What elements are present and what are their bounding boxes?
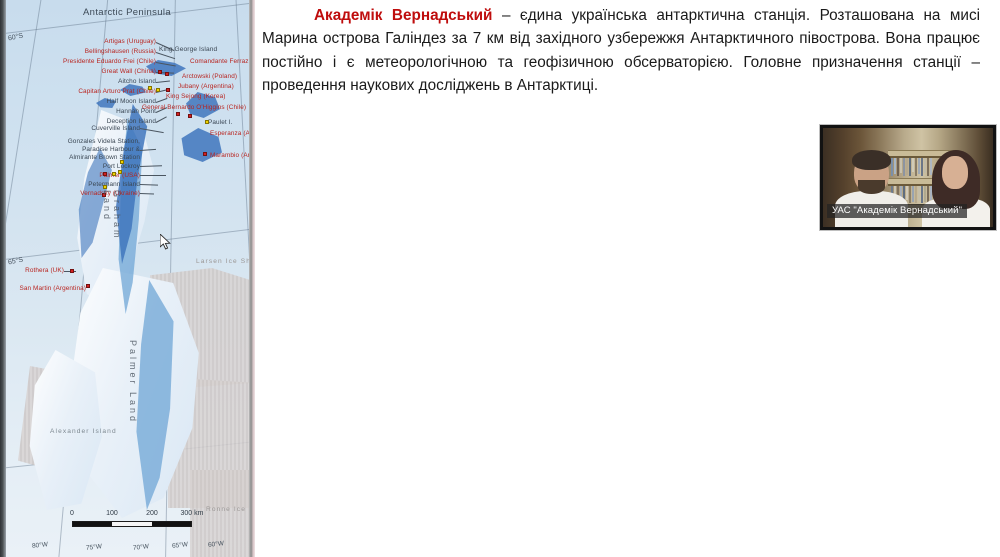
station-label-capitan-arturo-prat: Capitan Arturo Prat (Chile) — [4, 89, 156, 96]
scale-bar-graphic — [72, 521, 192, 527]
place-label-paulet-island: Paulet I. — [208, 120, 232, 127]
place-label-cuverville-island: Cuverville Island — [4, 126, 140, 133]
station-marker — [166, 88, 170, 92]
station-marker — [165, 72, 169, 76]
station-marker — [176, 112, 180, 116]
presentation-slide: Antarctic Peninsula 60°S 65°S Artigas (U… — [0, 0, 1000, 557]
station-marker — [86, 284, 90, 288]
scale-tick-labels: 0 100 200 300 km — [72, 510, 192, 520]
station-marker — [148, 86, 152, 90]
place-label-aitcho-island: Aitcho Island — [4, 79, 156, 86]
video-thumbnail[interactable]: УАС "Академік Вернадський" — [820, 125, 996, 230]
place-label-king-george-island: King George Island — [159, 46, 217, 53]
leader-line — [140, 175, 166, 176]
region-label-graham-land: Graham Land — [102, 190, 122, 270]
region-label-palmer-land: Palmer Land — [128, 340, 138, 440]
scale-segment — [73, 522, 112, 526]
map-scale-bar: 0 100 200 300 km — [72, 521, 192, 527]
station-marker — [103, 172, 107, 176]
station-marker — [156, 88, 160, 92]
map-right-border — [249, 0, 255, 557]
station-label-marambio: Marambio (Argentina) — [210, 152, 249, 160]
station-label-great-wall: Great Wall (China) — [4, 69, 156, 76]
mouse-cursor-icon — [160, 234, 171, 250]
station-marker — [188, 114, 192, 118]
place-label-paradise-harbour: Paradise Harbour & — [4, 147, 140, 154]
map-title: Antarctic Peninsula — [83, 7, 171, 18]
station-label-ohiggins-text: General Bernardo O'Higgins (Chile) — [142, 104, 246, 111]
station-label-comandante-ferraz: Comandante Ferraz (Brazil) — [190, 58, 249, 66]
station-marker — [158, 70, 162, 74]
station-label-esperanza: Esperanza (Argentina) — [210, 130, 249, 138]
place-label-hannah-point: Hannah Point — [4, 109, 156, 116]
station-label-san-martin-argentina: San Martin (Argentina) — [4, 286, 86, 293]
person-left-hair — [852, 150, 891, 170]
station-marker — [203, 152, 207, 156]
station-marker — [112, 172, 116, 176]
region-label-alexander-island: Alexander Island — [50, 428, 98, 437]
station-label-palmer-usa: Palmer (USA) — [4, 173, 140, 180]
station-label-arctowski: Arctowski (Poland) — [182, 74, 237, 81]
station-marker — [118, 170, 122, 174]
slide-body-text: Академік Вернадський – єдина українська … — [262, 4, 980, 97]
scale-tick-200: 200 — [146, 510, 158, 517]
station-label-bellingshausen: Bellingshausen (Russia) — [4, 49, 156, 56]
station-name-highlight: Академік Вернадський — [314, 7, 492, 24]
person-right-face — [942, 156, 968, 190]
video-caption-label: УАС "Академік Вернадський" — [827, 204, 967, 218]
station-label-king-sejong: King Sejong (Korea) — [166, 94, 225, 101]
scale-segment — [112, 522, 151, 526]
antarctic-peninsula-map: Antarctic Peninsula 60°S 65°S Artigas (U… — [0, 0, 249, 557]
region-label-ronne-ice-shelf: Ronne Ice Shelf — [206, 506, 248, 515]
station-marker — [120, 160, 124, 164]
place-label-half-moon-island: Half Moon Island — [4, 99, 156, 106]
scale-tick-300: 300 km — [181, 510, 204, 517]
place-label-petermann-island: Petermann Island — [4, 182, 140, 189]
scale-tick-0: 0 — [70, 510, 74, 517]
region-label-larsen-ice-shelf: Larsen Ice Shelf — [196, 258, 238, 267]
station-marker — [205, 120, 209, 124]
scale-segment — [152, 522, 191, 526]
station-label-presidente-eduardo-frei: Presidente Eduardo Frei (Chile) — [4, 59, 156, 66]
map-left-border — [0, 0, 6, 557]
station-marker — [70, 269, 74, 273]
scale-tick-100: 100 — [106, 510, 118, 517]
station-label-artigas: Artigas (Uruguay) — [4, 39, 156, 46]
station-label-jubany: Jubany (Argentina) — [178, 84, 234, 91]
place-label-gonzales-videla-station: Gonzales Videla Station, — [4, 139, 140, 146]
station-label-rothera-uk: Rothera (UK) — [4, 268, 64, 275]
station-label-general-bernardo-ohiggins: General Bernardo O'Higgins (Chile) — [142, 104, 246, 112]
station-marker — [103, 185, 107, 189]
